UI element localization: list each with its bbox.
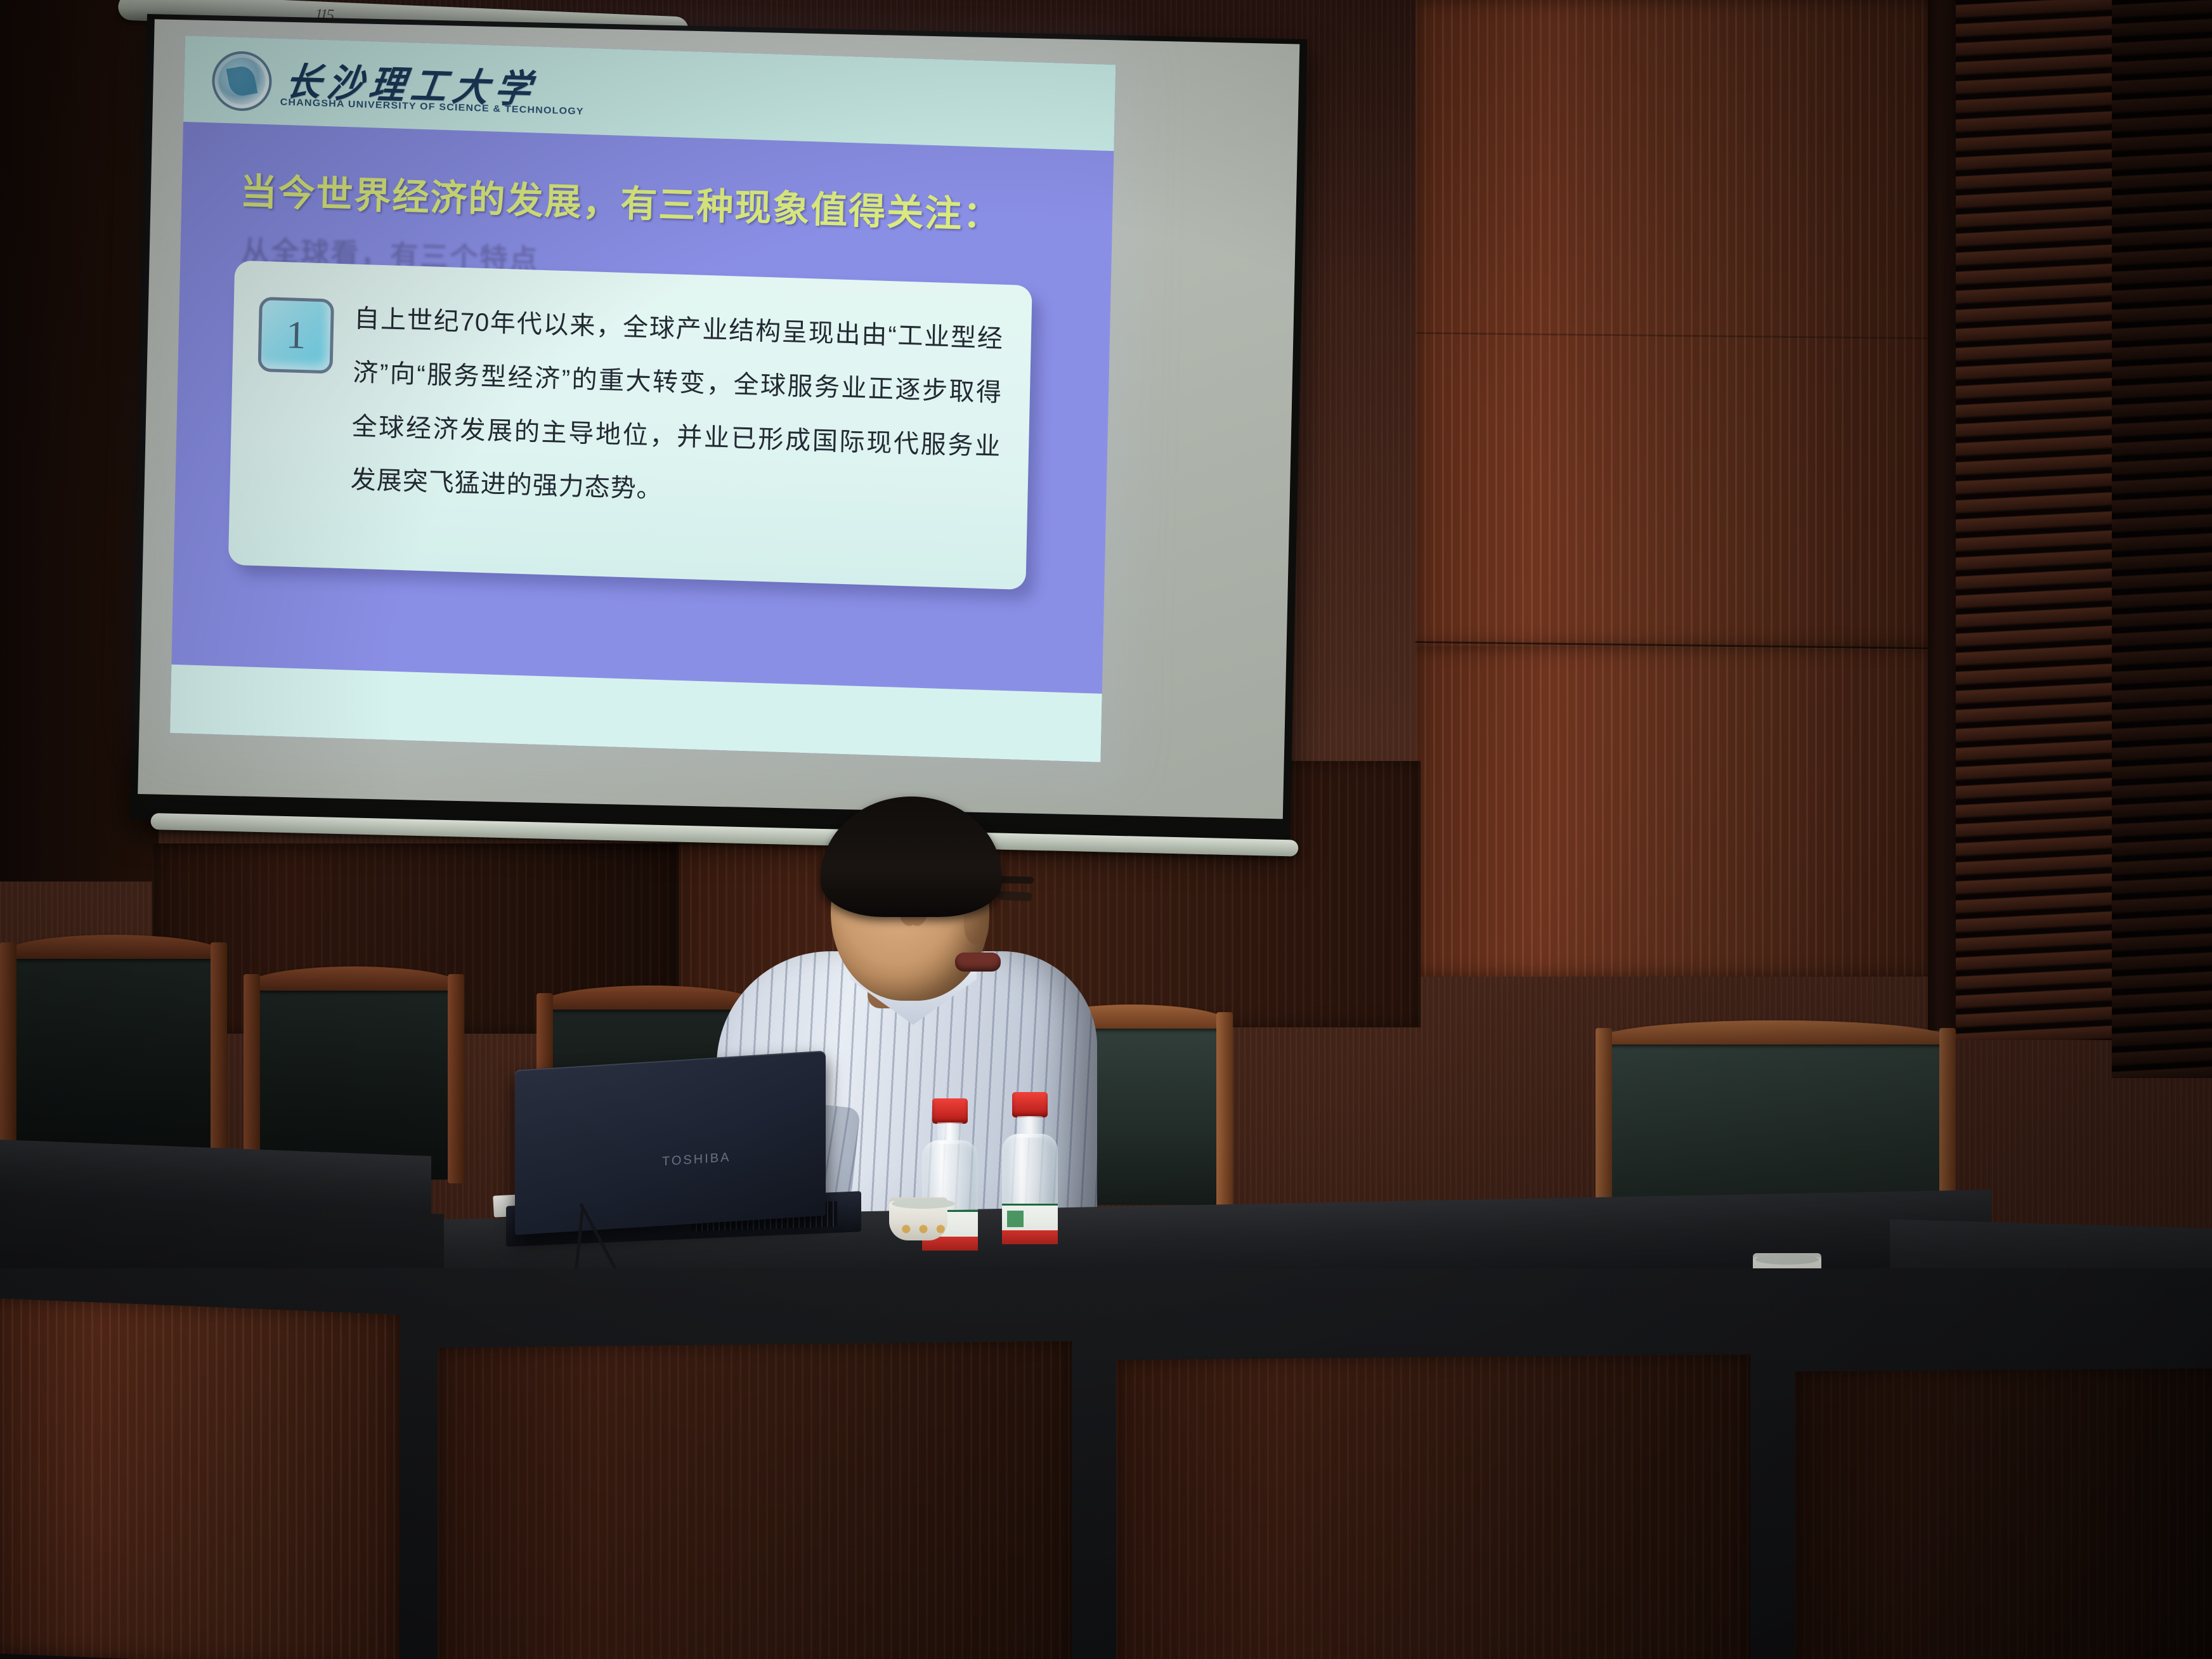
- bottle-label-red-band: [1002, 1230, 1058, 1244]
- lecture-hall-photo: 115 长沙理工大学 CHANGSHA UNIVERSITY OF SCIENC…: [0, 0, 2212, 1659]
- item-number-badge: 1: [257, 297, 334, 374]
- university-seal-icon: [211, 50, 272, 112]
- chair-back: [252, 977, 455, 1180]
- chair-rail-left: [0, 942, 16, 1158]
- chair-back: [9, 945, 218, 1154]
- dais-wood-panel-3: [1116, 1355, 1750, 1659]
- laptop-brand-label: TOSHIBA: [662, 1150, 731, 1169]
- chair-1[interactable]: [9, 945, 218, 1154]
- chair-rail-right: [1216, 1012, 1233, 1209]
- projected-slide: 长沙理工大学 CHANGSHA UNIVERSITY OF SCIENCE & …: [170, 36, 1116, 762]
- dais-wood-panel-2: [438, 1341, 1072, 1659]
- bottle-cap: [932, 1098, 968, 1124]
- wall-panel-upper-right: [1415, 0, 1935, 647]
- dais-wood-panel-1: [0, 1298, 400, 1659]
- chair-rail-right: [448, 974, 464, 1183]
- slide-body-text: 自上世纪70年代以来，全球产业结构呈现出由“工业型经济”向“服务型经济”的重大转…: [350, 292, 1004, 528]
- laptop-screen-lid[interactable]: TOSHIBA: [515, 1051, 826, 1235]
- chair-2[interactable]: [252, 977, 455, 1180]
- paper-cup-desk[interactable]: [889, 1197, 947, 1240]
- bottle-cap: [1012, 1092, 1048, 1117]
- item-number-label: 1: [286, 315, 306, 355]
- slide-content-card: 1 自上世纪70年代以来，全球产业结构呈现出由“工业型经济”向“服务型经济”的重…: [228, 261, 1032, 590]
- wall-panel-lower-right: [1415, 647, 1935, 977]
- eye-right: [997, 891, 1033, 902]
- chair-rail-right: [211, 942, 227, 1158]
- mouth: [955, 953, 1001, 972]
- slide-title: 当今世界经济的发展，有三种现象值得关注：: [240, 162, 1001, 239]
- wall-pilaster-right: [1928, 0, 1956, 1065]
- water-bottle-right[interactable]: [1001, 1092, 1059, 1244]
- dais-wood-panel-4: [1795, 1369, 2212, 1659]
- bottle-label-green-mark: [1007, 1211, 1024, 1227]
- bottle-body: [1002, 1134, 1058, 1209]
- cup-pattern: [898, 1224, 949, 1234]
- acoustic-slat-panel-far-right: [2112, 0, 2212, 1078]
